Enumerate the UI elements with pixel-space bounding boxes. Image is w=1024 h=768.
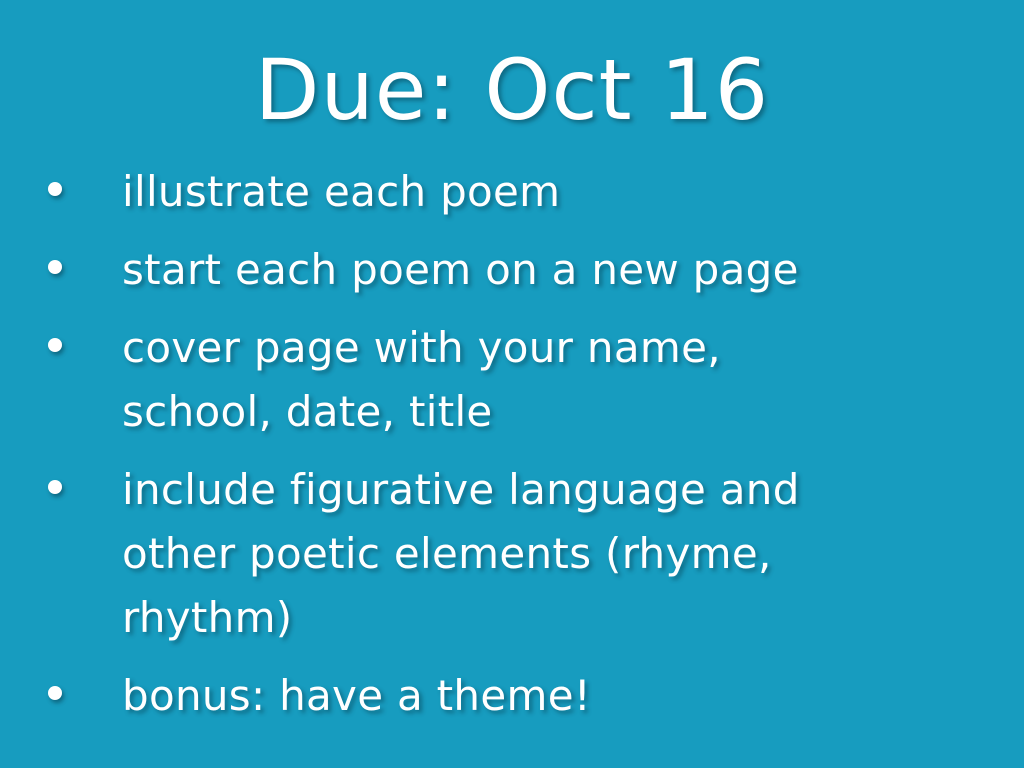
list-item: include figurative language and other po… xyxy=(48,458,988,650)
list-item: illustrate each poem xyxy=(48,160,988,224)
list-item-text: start each poem on a new page xyxy=(122,238,988,302)
page-title: Due: Oct 16 xyxy=(0,48,1024,132)
list-item-line: other poetic elements (rhyme, xyxy=(122,522,988,586)
list-item-line: start each poem on a new page xyxy=(122,238,988,302)
list-item-text: bonus: have a theme! xyxy=(122,664,988,728)
bullet-dot-icon xyxy=(48,686,62,700)
bullet-dot-icon xyxy=(48,182,62,196)
list-item-text: include figurative language and other po… xyxy=(122,458,988,650)
bullet-marker xyxy=(48,458,122,494)
list-item: bonus: have a theme! xyxy=(48,664,988,728)
bullet-marker xyxy=(48,316,122,352)
bullet-marker xyxy=(48,160,122,196)
bullet-list: illustrate each poem start each poem on … xyxy=(48,160,988,742)
list-item-line: school, date, title xyxy=(122,380,988,444)
list-item: cover page with your name, school, date,… xyxy=(48,316,988,444)
list-item-text: cover page with your name, school, date,… xyxy=(122,316,988,444)
bullet-marker xyxy=(48,664,122,700)
bullet-marker xyxy=(48,238,122,274)
list-item-line: include figurative language and xyxy=(122,458,988,522)
list-item-line: rhythm) xyxy=(122,586,988,650)
list-item-line: bonus: have a theme! xyxy=(122,664,988,728)
bullet-dot-icon xyxy=(48,480,62,494)
list-item-line: illustrate each poem xyxy=(122,160,988,224)
presentation-slide: Due: Oct 16 illustrate each poem start e… xyxy=(0,0,1024,768)
list-item-line: cover page with your name, xyxy=(122,316,988,380)
list-item: start each poem on a new page xyxy=(48,238,988,302)
bullet-dot-icon xyxy=(48,260,62,274)
bullet-dot-icon xyxy=(48,338,62,352)
list-item-text: illustrate each poem xyxy=(122,160,988,224)
